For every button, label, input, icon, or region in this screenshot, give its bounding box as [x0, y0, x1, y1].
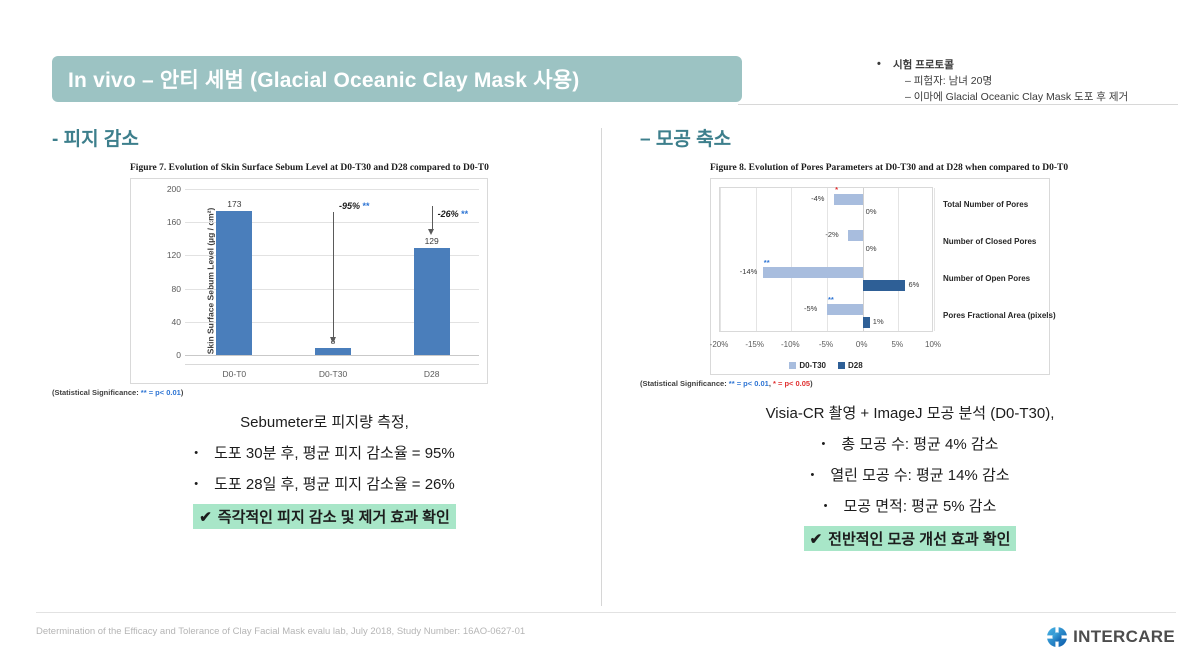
- pores-significance-marker: *: [835, 185, 838, 194]
- pores-value-d28: 6%: [908, 279, 919, 290]
- legend-label: D28: [848, 361, 863, 370]
- sebum-gridline: [185, 355, 479, 356]
- right-lead-text: Visia-CR 촬영 + ImageJ 모공 분석 (D0-T30),: [640, 402, 1180, 423]
- slide-title: In vivo – 안티 세범 (Glacial Oceanic Clay Ma…: [68, 64, 579, 94]
- column-divider: [601, 128, 602, 606]
- sebum-y-tick: 120: [151, 250, 181, 260]
- right-bullet-item-text: 모공 면적: 평균 5% 감소: [843, 498, 996, 515]
- sebum-x-tick: D0-T0: [223, 369, 247, 379]
- pores-value-d28: 0%: [866, 206, 877, 217]
- right-figure-caption: Figure 8. Evolution of Pores Parameters …: [710, 163, 1180, 173]
- pores-x-tick: -20%: [710, 340, 729, 349]
- sebum-y-tick: 40: [151, 317, 181, 327]
- bullet-icon: •: [810, 469, 814, 481]
- pores-value-d0t30: -14%: [740, 266, 758, 277]
- right-bullet-list: •총 모공 수: 평균 4% 감소•열린 모공 수: 평균 14% 감소•모공 …: [640, 433, 1180, 516]
- sebum-annotation-label: -95% **: [339, 201, 370, 211]
- pores-chart-legend: D0-T30D28: [719, 361, 933, 370]
- pores-x-tick: 5%: [892, 340, 904, 349]
- pores-x-tick: 10%: [925, 340, 941, 349]
- sebum-y-tick: 160: [151, 217, 181, 227]
- pores-x-tick: 0%: [856, 340, 868, 349]
- bullet-icon: •: [824, 500, 828, 512]
- sebum-annotation-arrow: [333, 212, 334, 337]
- bullet-icon: •: [194, 478, 198, 490]
- pores-significance-marker: **: [828, 295, 834, 304]
- slide: In vivo – 안티 세범 (Glacial Oceanic Clay Ma…: [0, 0, 1193, 670]
- protocol-block: 시험 프로토콜 – 피험자: 남녀 20명 – 이마에 Glacial Ocea…: [871, 58, 1171, 105]
- pores-bar-d28: [863, 317, 870, 328]
- left-figure-caption: Figure 7. Evolution of Skin Surface Sebu…: [130, 163, 597, 173]
- pores-category-label: Pores Fractional Area (pixels): [943, 311, 1056, 320]
- bullet-icon: •: [822, 438, 826, 450]
- pores-bar-d0t30: [827, 304, 863, 315]
- brand-logo: INTERCARE: [1046, 626, 1175, 648]
- left-bullet-item: •도포 28일 후, 평균 피지 감소율 = 26%: [52, 473, 597, 494]
- intercare-globe-icon: [1046, 626, 1068, 648]
- pores-legend-item: D0-T30: [789, 361, 826, 370]
- left-bullet-item-text: 도포 28일 후, 평균 피지 감소율 = 26%: [214, 476, 455, 493]
- right-bullet-item-text: 열린 모공 수: 평균 14% 감소: [830, 467, 1009, 484]
- right-sig-single: * = p< 0.05: [773, 379, 810, 388]
- left-column: - 피지 감소 Figure 7. Evolution of Skin Surf…: [52, 124, 597, 529]
- left-section-heading: - 피지 감소: [52, 124, 597, 151]
- left-significance-note: (Statistical Significance: ** = p< 0.01): [52, 388, 597, 397]
- pores-category-label: Total Number of Pores: [943, 200, 1028, 209]
- pores-x-tick: -10%: [781, 340, 800, 349]
- right-significance-note: (Statistical Significance: ** = p< 0.01,…: [640, 379, 1180, 388]
- right-bullet-item: •열린 모공 수: 평균 14% 감소: [640, 464, 1180, 485]
- check-icon: ✔: [810, 531, 823, 548]
- pores-x-tick: -5%: [819, 340, 833, 349]
- sebum-annotation-arrowhead: [428, 229, 434, 235]
- left-lead-text: Sebumeter로 피지량 측정,: [52, 411, 597, 432]
- sebum-x-tick: D28: [424, 369, 440, 379]
- header-divider: [738, 104, 1178, 105]
- sebum-annotation-arrow: [432, 206, 433, 229]
- right-conclusion: ✔전반적인 모공 개선 효과 확인: [804, 526, 1017, 551]
- left-conclusion-text: 즉각적인 피지 감소 및 제거 효과 확인: [218, 509, 450, 526]
- pores-gridline: [756, 188, 757, 331]
- pores-value-d0t30: -5%: [804, 303, 817, 314]
- right-bullet-item: •모공 면적: 평균 5% 감소: [640, 495, 1180, 516]
- pores-bar-d0t30: [763, 267, 863, 278]
- sebum-bar: [216, 211, 252, 355]
- footer-divider: [36, 612, 1176, 613]
- sebum-x-axis-line: [185, 364, 479, 365]
- right-body-text: Visia-CR 촬영 + ImageJ 모공 분석 (D0-T30), •총 …: [640, 402, 1180, 551]
- pores-bar-d0t30: [848, 230, 862, 241]
- sebum-gridline: [185, 189, 479, 190]
- pores-value-d0t30: -4%: [811, 193, 824, 204]
- sebum-x-tick: D0-T30: [319, 369, 347, 379]
- right-bullet-item: •총 모공 수: 평균 4% 감소: [640, 433, 1180, 454]
- sebum-y-tick: 0: [151, 350, 181, 360]
- pores-x-tick: -15%: [745, 340, 764, 349]
- pores-category-label: Number of Closed Pores: [943, 237, 1036, 246]
- legend-swatch: [838, 362, 845, 369]
- pores-gridline: [898, 188, 899, 331]
- right-sig-double: ** = p< 0.01: [729, 379, 769, 388]
- pores-gridline: [720, 188, 721, 331]
- pores-value-d0t30: -2%: [825, 229, 838, 240]
- right-section-heading: – 모공 축소: [640, 124, 1180, 151]
- brand-name: INTERCARE: [1073, 627, 1175, 647]
- right-conclusion-wrap: ✔전반적인 모공 개선 효과 확인: [640, 526, 1180, 551]
- sebum-bar-chart: Skin Surface Sebum Level (µg / cm²)04080…: [130, 178, 488, 384]
- pores-gridline: [934, 188, 935, 331]
- check-icon: ✔: [199, 509, 212, 526]
- sebum-annotation-label: -26% **: [438, 209, 469, 219]
- pores-gridline: [791, 188, 792, 331]
- left-conclusion-wrap: ✔즉각적인 피지 감소 및 제거 효과 확인: [52, 504, 597, 529]
- left-bullet-list: •도포 30분 후, 평균 피지 감소율 = 95%•도포 28일 후, 평균 …: [52, 442, 597, 494]
- sebum-y-tick: 80: [151, 284, 181, 294]
- pores-legend-item: D28: [838, 361, 863, 370]
- sebum-bar: [315, 348, 351, 355]
- protocol-line-method: – 이마에 Glacial Oceanic Clay Mask 도포 후 제거: [871, 89, 1171, 105]
- sebum-bar-value: 173: [227, 199, 241, 209]
- pores-value-d28: 0%: [866, 243, 877, 254]
- pores-zero-line: [863, 188, 864, 331]
- right-column: – 모공 축소 Figure 8. Evolution of Pores Par…: [640, 124, 1180, 551]
- left-bullet-item: •도포 30분 후, 평균 피지 감소율 = 95%: [52, 442, 597, 463]
- protocol-heading: 시험 프로토콜: [871, 58, 1171, 73]
- right-conclusion-text: 전반적인 모공 개선 효과 확인: [828, 531, 1010, 548]
- pores-bar-d28: [863, 280, 906, 291]
- left-bullet-item-text: 도포 30분 후, 평균 피지 감소율 = 95%: [214, 445, 455, 462]
- pores-bar-chart: -20%-15%-10%-5%0%5%10%-4%*0%Total Number…: [710, 178, 1050, 375]
- sebum-bar-value: 129: [425, 236, 439, 246]
- legend-label: D0-T30: [799, 361, 826, 370]
- sebum-y-tick: 200: [151, 184, 181, 194]
- pores-bar-d0t30: [834, 194, 863, 205]
- bullet-icon: •: [194, 447, 198, 459]
- pores-category-label: Number of Open Pores: [943, 274, 1030, 283]
- slide-title-banner: In vivo – 안티 세범 (Glacial Oceanic Clay Ma…: [52, 56, 742, 102]
- pores-value-d28: 1%: [873, 316, 884, 327]
- protocol-line-subjects: – 피험자: 남녀 20명: [871, 73, 1171, 89]
- left-conclusion: ✔즉각적인 피지 감소 및 제거 효과 확인: [193, 504, 456, 529]
- left-sig-double: ** = p< 0.01: [141, 388, 181, 397]
- left-body-text: Sebumeter로 피지량 측정, •도포 30분 후, 평균 피지 감소율 …: [52, 411, 597, 529]
- pores-significance-marker: **: [764, 258, 770, 267]
- legend-swatch: [789, 362, 796, 369]
- footer-citation: Determination of the Efficacy and Tolera…: [36, 626, 525, 637]
- right-bullet-item-text: 총 모공 수: 평균 4% 감소: [841, 436, 998, 453]
- sebum-y-axis-label: Skin Surface Sebum Level (µg / cm²): [205, 208, 215, 355]
- sebum-bar: [414, 248, 450, 355]
- sebum-annotation-arrowhead: [330, 337, 336, 343]
